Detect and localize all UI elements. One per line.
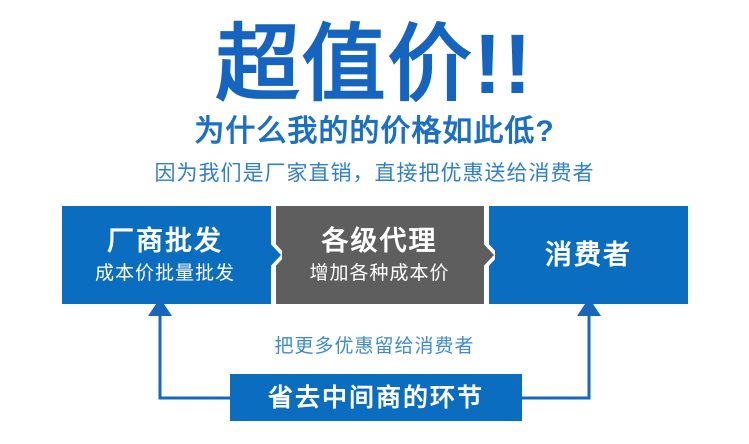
flow-step-maker-subtitle: 成本价批量批发 bbox=[95, 262, 235, 286]
flow-step-agent-title: 各级代理 bbox=[322, 225, 438, 258]
arrow-up-icon bbox=[577, 298, 601, 316]
page-title: 超值价!! bbox=[0, 18, 749, 110]
flow-step-maker-title: 厂商批发 bbox=[107, 225, 223, 258]
page-tagline: 因为我们是厂家直销，直接把优惠送给消费者 bbox=[0, 160, 749, 188]
promo-banner: 超值价!! 为什么我的的价格如此低? 因为我们是厂家直销，直接把优惠送给消费者 … bbox=[0, 0, 749, 444]
bottom-highlight-box: 省去中间商的环节 bbox=[230, 374, 522, 421]
bottom-highlight-label: 省去中间商的环节 bbox=[268, 383, 484, 413]
arrow-up-icon bbox=[148, 298, 172, 316]
flow-step-consumer-title: 消费者 bbox=[545, 239, 632, 272]
flow-step-agent-subtitle: 增加各种成本价 bbox=[309, 262, 449, 286]
bottom-caption: 把更多优惠留给消费者 bbox=[0, 334, 749, 360]
page-subtitle: 为什么我的的价格如此低? bbox=[0, 114, 749, 150]
